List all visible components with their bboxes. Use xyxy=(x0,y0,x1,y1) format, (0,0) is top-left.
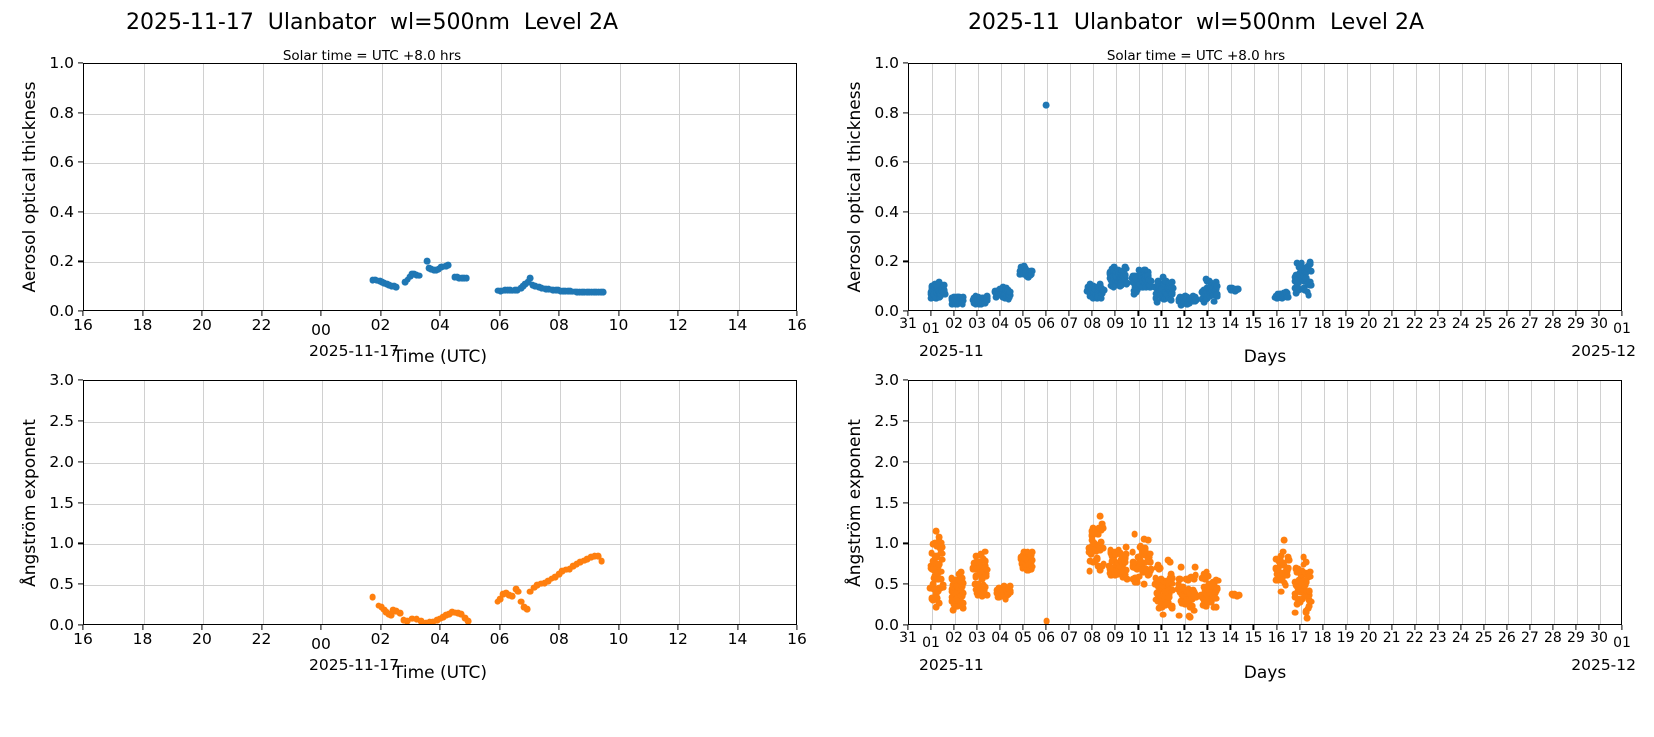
data-point xyxy=(1214,292,1221,299)
gridline-vertical xyxy=(1577,381,1578,624)
x-tick-label: 22 xyxy=(242,630,282,648)
gridline-vertical xyxy=(1439,381,1440,624)
y-tick-mark xyxy=(78,112,83,113)
aeronet-figure: 2025-11-17 Ulanbator wl=500nm Level 2ASo… xyxy=(0,0,1654,737)
gridline-vertical xyxy=(1393,64,1394,310)
data-point xyxy=(1191,607,1198,614)
x-tick-label: 08 xyxy=(539,316,579,334)
data-point xyxy=(524,605,531,612)
data-point xyxy=(1213,604,1220,611)
data-point xyxy=(1122,566,1129,573)
gridline-vertical xyxy=(1462,381,1463,624)
data-point xyxy=(1123,543,1130,550)
gridline-vertical xyxy=(1577,64,1578,310)
x-axis-offset-right: 2025-12 xyxy=(1571,656,1636,674)
gridline-vertical xyxy=(1001,64,1002,310)
data-point xyxy=(515,588,522,595)
gridline-horizontal xyxy=(84,114,796,115)
data-point xyxy=(1307,573,1314,580)
gridline-vertical xyxy=(1208,64,1209,310)
data-point xyxy=(941,289,948,296)
x-tick-label: 14 xyxy=(718,630,758,648)
x-tick-label: 12 xyxy=(658,316,698,334)
data-point xyxy=(959,589,966,596)
data-point xyxy=(1278,588,1285,595)
data-point xyxy=(938,550,945,557)
gridline-vertical xyxy=(1070,64,1071,310)
data-point xyxy=(1282,582,1289,589)
data-point xyxy=(1178,563,1185,570)
gridline-vertical xyxy=(1508,381,1509,624)
x-tick-label: 08 xyxy=(539,630,579,648)
data-point xyxy=(936,600,943,607)
x-tick-mark xyxy=(1621,311,1622,316)
data-point xyxy=(1304,615,1311,622)
data-point xyxy=(1029,563,1036,570)
gridline-horizontal xyxy=(909,544,1621,545)
gridline-vertical xyxy=(679,381,680,624)
x-tick-mark xyxy=(320,311,321,316)
angstrom-monthly-ylabel: Ångström exponent xyxy=(845,419,865,587)
gridline-horizontal xyxy=(84,163,796,164)
data-point xyxy=(1303,559,1310,566)
angstrom-monthly-xlabel: Days xyxy=(1244,663,1286,683)
x-tick-label: 01 xyxy=(1602,635,1642,651)
data-point xyxy=(445,262,452,269)
aod-daily-xlabel: Time (UTC) xyxy=(393,347,487,367)
aod-monthly-subtitle: Solar time = UTC +8.0 hrs xyxy=(896,48,1496,64)
data-point xyxy=(397,610,404,617)
gridline-horizontal xyxy=(909,163,1621,164)
gridline-horizontal xyxy=(84,585,796,586)
gridline-vertical xyxy=(978,64,979,310)
data-point xyxy=(937,568,944,575)
gridline-horizontal xyxy=(84,463,796,464)
data-point xyxy=(598,558,605,565)
gridline-vertical xyxy=(263,64,264,310)
y-tick-mark xyxy=(78,261,83,262)
gridline-vertical xyxy=(441,381,442,624)
y-tick-mark xyxy=(78,461,83,462)
gridline-vertical xyxy=(1139,381,1140,624)
x-tick-label: 18 xyxy=(123,630,163,648)
data-point xyxy=(1308,598,1315,605)
x-tick-label: 02 xyxy=(361,316,401,334)
gridline-vertical xyxy=(203,381,204,624)
aod-daily-subtitle: Solar time = UTC +8.0 hrs xyxy=(72,48,672,64)
gridline-vertical xyxy=(1485,64,1486,310)
data-point xyxy=(1029,549,1036,556)
data-point xyxy=(960,599,967,606)
gridline-horizontal xyxy=(84,504,796,505)
data-point xyxy=(982,584,989,591)
gridline-horizontal xyxy=(909,504,1621,505)
data-point xyxy=(984,566,991,573)
data-point xyxy=(982,548,989,555)
data-point xyxy=(1100,545,1107,552)
data-point xyxy=(1146,550,1153,557)
data-point xyxy=(1096,512,1103,519)
x-tick-label: 22 xyxy=(242,316,282,334)
x-tick-mark xyxy=(1621,625,1622,630)
data-point xyxy=(1291,609,1298,616)
gridline-vertical xyxy=(1370,64,1371,310)
y-tick-mark xyxy=(903,261,908,262)
gridline-horizontal xyxy=(84,422,796,423)
y-tick-mark xyxy=(78,211,83,212)
gridline-horizontal xyxy=(84,544,796,545)
gridline-vertical xyxy=(263,381,264,624)
data-point xyxy=(1101,287,1108,294)
x-tick-label: 16 xyxy=(63,316,103,334)
data-point xyxy=(1147,559,1154,566)
x-tick-label: 10 xyxy=(599,316,639,334)
data-point xyxy=(1007,589,1014,596)
y-tick-label: 1.0 xyxy=(846,54,899,72)
gridline-vertical xyxy=(382,64,383,310)
data-point xyxy=(1122,272,1129,279)
data-point xyxy=(463,275,470,282)
data-point xyxy=(959,301,966,308)
gridline-vertical xyxy=(1508,64,1509,310)
data-point xyxy=(1235,286,1242,293)
y-tick-mark xyxy=(78,379,83,380)
data-point xyxy=(1281,537,1288,544)
data-point xyxy=(1099,524,1106,531)
data-point xyxy=(1157,565,1164,572)
y-tick-mark xyxy=(78,62,83,63)
data-point xyxy=(1192,564,1199,571)
data-point xyxy=(1286,557,1293,564)
x-tick-label: 20 xyxy=(182,316,222,334)
x-tick-label: 10 xyxy=(599,630,639,648)
gridline-vertical xyxy=(1047,381,1048,624)
data-point xyxy=(1043,618,1050,625)
gridline-vertical xyxy=(739,64,740,310)
gridline-horizontal xyxy=(909,114,1621,115)
y-tick-mark xyxy=(78,502,83,503)
data-point xyxy=(1176,612,1183,619)
x-axis-offset-left: 2025-11-17 xyxy=(309,656,399,674)
data-point xyxy=(1187,613,1194,620)
x-tick-label: 01 xyxy=(1602,321,1642,337)
gridline-vertical xyxy=(1278,381,1279,624)
gridline-vertical xyxy=(955,64,956,310)
gridline-vertical xyxy=(1278,64,1279,310)
gridline-vertical xyxy=(1024,381,1025,624)
angstrom-daily-xlabel: Time (UTC) xyxy=(393,663,487,683)
data-point xyxy=(1028,271,1035,278)
gridline-vertical xyxy=(1347,64,1348,310)
gridline-horizontal xyxy=(909,585,1621,586)
data-point xyxy=(1212,595,1219,602)
data-point xyxy=(465,618,472,625)
data-point xyxy=(1166,594,1173,601)
gridline-vertical xyxy=(932,64,933,310)
data-point xyxy=(1169,604,1176,611)
gridline-vertical xyxy=(1531,64,1532,310)
x-tick-mark xyxy=(930,311,931,316)
data-point xyxy=(527,274,534,281)
data-point xyxy=(1235,592,1242,599)
angstrom-daily-ylabel: Ångström exponent xyxy=(20,419,40,587)
y-tick-mark xyxy=(903,543,908,544)
gridline-vertical xyxy=(1116,381,1117,624)
gridline-vertical xyxy=(739,381,740,624)
x-tick-label: 14 xyxy=(718,316,758,334)
gridline-vertical xyxy=(620,381,621,624)
x-tick-label: 02 xyxy=(361,630,401,648)
data-point xyxy=(960,579,967,586)
gridline-vertical xyxy=(1347,381,1348,624)
data-point xyxy=(416,272,423,279)
data-point xyxy=(1285,565,1292,572)
gridline-vertical xyxy=(679,64,680,310)
x-tick-label: 04 xyxy=(420,630,460,648)
data-point xyxy=(1305,291,1312,298)
gridline-vertical xyxy=(322,64,323,310)
x-tick-mark xyxy=(320,625,321,630)
gridline-vertical xyxy=(1070,381,1071,624)
data-point xyxy=(1167,297,1174,304)
data-point xyxy=(1131,531,1138,538)
data-point xyxy=(1306,258,1313,265)
x-tick-label: 16 xyxy=(63,630,103,648)
y-tick-label: 3.0 xyxy=(21,371,74,389)
gridline-vertical xyxy=(1370,381,1371,624)
data-point xyxy=(1285,294,1292,301)
data-point xyxy=(1141,581,1148,588)
y-tick-mark xyxy=(78,420,83,421)
gridline-vertical xyxy=(203,64,204,310)
data-point xyxy=(1043,101,1050,108)
x-tick-label: 06 xyxy=(480,316,520,334)
gridline-vertical xyxy=(501,381,502,624)
gridline-vertical xyxy=(1600,64,1601,310)
data-point xyxy=(984,297,991,304)
gridline-horizontal xyxy=(909,463,1621,464)
data-point xyxy=(1169,285,1176,292)
gridline-horizontal xyxy=(909,213,1621,214)
data-point xyxy=(1306,588,1313,595)
x-tick-label: 04 xyxy=(420,316,460,334)
x-axis-offset-right: 2025-12 xyxy=(1571,342,1636,360)
y-tick-mark xyxy=(903,461,908,462)
gridline-vertical xyxy=(1439,64,1440,310)
y-tick-label: 1.0 xyxy=(21,54,74,72)
gridline-vertical xyxy=(144,381,145,624)
aod-monthly-axes xyxy=(908,63,1622,311)
gridline-vertical xyxy=(382,381,383,624)
gridline-vertical xyxy=(1231,64,1232,310)
data-point xyxy=(1308,268,1315,275)
x-axis-offset-left: 2025-11 xyxy=(919,656,984,674)
gridline-vertical xyxy=(1416,64,1417,310)
aod-monthly-xlabel: Days xyxy=(1244,347,1286,367)
aod-monthly-title: 2025-11 Ulanbator wl=500nm Level 2A xyxy=(746,10,1646,35)
y-tick-mark xyxy=(903,211,908,212)
gridline-vertical xyxy=(1600,381,1601,624)
gridline-vertical xyxy=(1531,381,1532,624)
gridline-horizontal xyxy=(909,422,1621,423)
gridline-vertical xyxy=(560,381,561,624)
gridline-vertical xyxy=(1393,381,1394,624)
data-point xyxy=(1214,283,1221,290)
data-point xyxy=(393,284,400,291)
angstrom-daily-axes xyxy=(83,380,797,625)
x-tick-label: 00 xyxy=(301,635,341,653)
data-point xyxy=(1167,558,1174,565)
x-tick-label: 20 xyxy=(182,630,222,648)
gridline-vertical xyxy=(501,64,502,310)
data-point xyxy=(1007,288,1014,295)
y-tick-mark xyxy=(903,584,908,585)
gridline-vertical xyxy=(1093,381,1094,624)
data-point xyxy=(1215,577,1222,584)
y-tick-mark xyxy=(903,420,908,421)
gridline-horizontal xyxy=(909,262,1621,263)
y-tick-mark xyxy=(78,543,83,544)
gridline-vertical xyxy=(1093,64,1094,310)
gridline-vertical xyxy=(1185,64,1186,310)
data-point xyxy=(1308,281,1315,288)
x-axis-offset-left: 2025-11-17 xyxy=(309,342,399,360)
gridline-vertical xyxy=(144,64,145,310)
gridline-vertical xyxy=(441,64,442,310)
gridline-vertical xyxy=(1254,381,1255,624)
x-tick-mark xyxy=(930,625,931,630)
aod-monthly-ylabel: Aerosol optical thickness xyxy=(845,82,865,293)
gridline-vertical xyxy=(1324,381,1325,624)
gridline-vertical xyxy=(560,64,561,310)
data-point xyxy=(1086,568,1093,575)
y-tick-mark xyxy=(903,502,908,503)
data-point xyxy=(1160,611,1167,618)
aod-daily-title: 2025-11-17 Ulanbator wl=500nm Level 2A xyxy=(0,10,822,35)
x-tick-label: 18 xyxy=(123,316,163,334)
gridline-vertical xyxy=(322,381,323,624)
y-tick-mark xyxy=(78,584,83,585)
gridline-vertical xyxy=(1324,64,1325,310)
gridline-vertical xyxy=(1416,381,1417,624)
gridline-vertical xyxy=(1462,64,1463,310)
data-point xyxy=(600,289,607,296)
gridline-vertical xyxy=(1554,64,1555,310)
y-tick-label: 3.0 xyxy=(846,371,899,389)
gridline-vertical xyxy=(1231,381,1232,624)
angstrom-monthly-axes xyxy=(908,380,1622,625)
x-tick-label: 16 xyxy=(777,316,817,334)
x-tick-label: 06 xyxy=(480,630,520,648)
data-point xyxy=(1145,537,1152,544)
y-tick-mark xyxy=(903,379,908,380)
y-tick-mark xyxy=(78,162,83,163)
y-tick-mark xyxy=(903,162,908,163)
data-point xyxy=(1213,586,1220,593)
gridline-vertical xyxy=(1485,381,1486,624)
gridline-horizontal xyxy=(84,213,796,214)
data-point xyxy=(938,556,945,563)
x-tick-label: 16 xyxy=(777,630,817,648)
y-tick-mark xyxy=(903,112,908,113)
data-point xyxy=(984,592,991,599)
aod-daily-axes xyxy=(83,63,797,311)
aod-daily-ylabel: Aerosol optical thickness xyxy=(20,82,40,293)
data-point xyxy=(369,594,376,601)
y-tick-mark xyxy=(903,62,908,63)
gridline-vertical xyxy=(1554,381,1555,624)
data-point xyxy=(983,572,990,579)
data-point xyxy=(982,557,989,564)
gridline-vertical xyxy=(620,64,621,310)
gridline-vertical xyxy=(1254,64,1255,310)
data-point xyxy=(958,569,965,576)
x-axis-offset-left: 2025-11 xyxy=(919,342,984,360)
data-point xyxy=(939,581,946,588)
x-tick-label: 00 xyxy=(301,321,341,339)
x-tick-label: 12 xyxy=(658,630,698,648)
